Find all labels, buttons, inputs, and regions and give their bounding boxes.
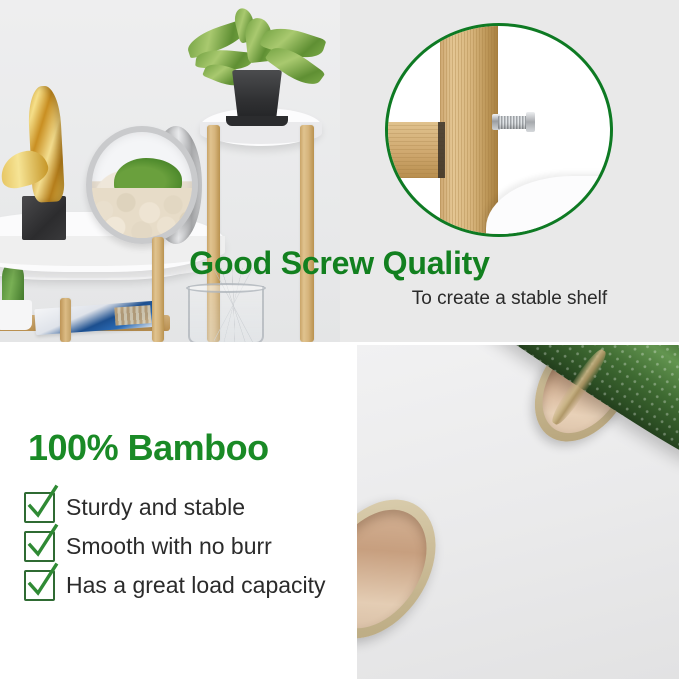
infographic-sheet: Good Screw Quality To create a stable sh… <box>0 0 679 679</box>
white-shelf-edge <box>486 176 613 237</box>
top-half-panel: Good Screw Quality To create a stable sh… <box>0 0 679 342</box>
feature-label: Has a great load capacity <box>66 572 326 599</box>
bamboo-features-panel: 100% Bamboo Sturdy and stable Smooth wit… <box>0 342 357 679</box>
callout-subheading: To create a stable shelf <box>340 288 679 310</box>
feature-label: Sturdy and stable <box>66 494 245 521</box>
callout-heading: Good Screw Quality <box>0 245 679 282</box>
screw-detail-callout <box>385 23 613 237</box>
lifestyle-photo <box>0 0 340 342</box>
glass-vase <box>188 286 264 342</box>
bamboo-leg <box>60 298 71 342</box>
feature-label: Smooth with no burr <box>66 533 272 560</box>
terrarium-pebbles <box>88 188 198 244</box>
list-item: Has a great load capacity <box>24 566 354 605</box>
feature-list: Sturdy and stable Smooth with no burr Ha… <box>24 488 354 605</box>
check-box-icon <box>24 570 55 601</box>
bamboo-leg <box>300 125 314 342</box>
pot-saucer <box>226 116 288 126</box>
bamboo-post <box>440 23 498 237</box>
bamboo-photo <box>357 345 679 679</box>
list-item: Sturdy and stable <box>24 488 354 527</box>
list-item: Smooth with no burr <box>24 527 354 566</box>
round-terrarium <box>86 126 198 244</box>
bamboo-bracket <box>385 122 444 178</box>
glass-vase-rim <box>186 283 266 293</box>
cactus-pot <box>0 300 32 330</box>
check-box-icon <box>24 531 55 562</box>
check-box-icon <box>24 492 55 523</box>
black-plant-pot <box>232 70 282 120</box>
screw-flange <box>526 112 535 132</box>
screw-thread <box>498 116 528 129</box>
sculpture-base <box>22 196 66 240</box>
bamboo-title: 100% Bamboo <box>28 427 269 469</box>
bracket-shadow <box>438 122 445 178</box>
